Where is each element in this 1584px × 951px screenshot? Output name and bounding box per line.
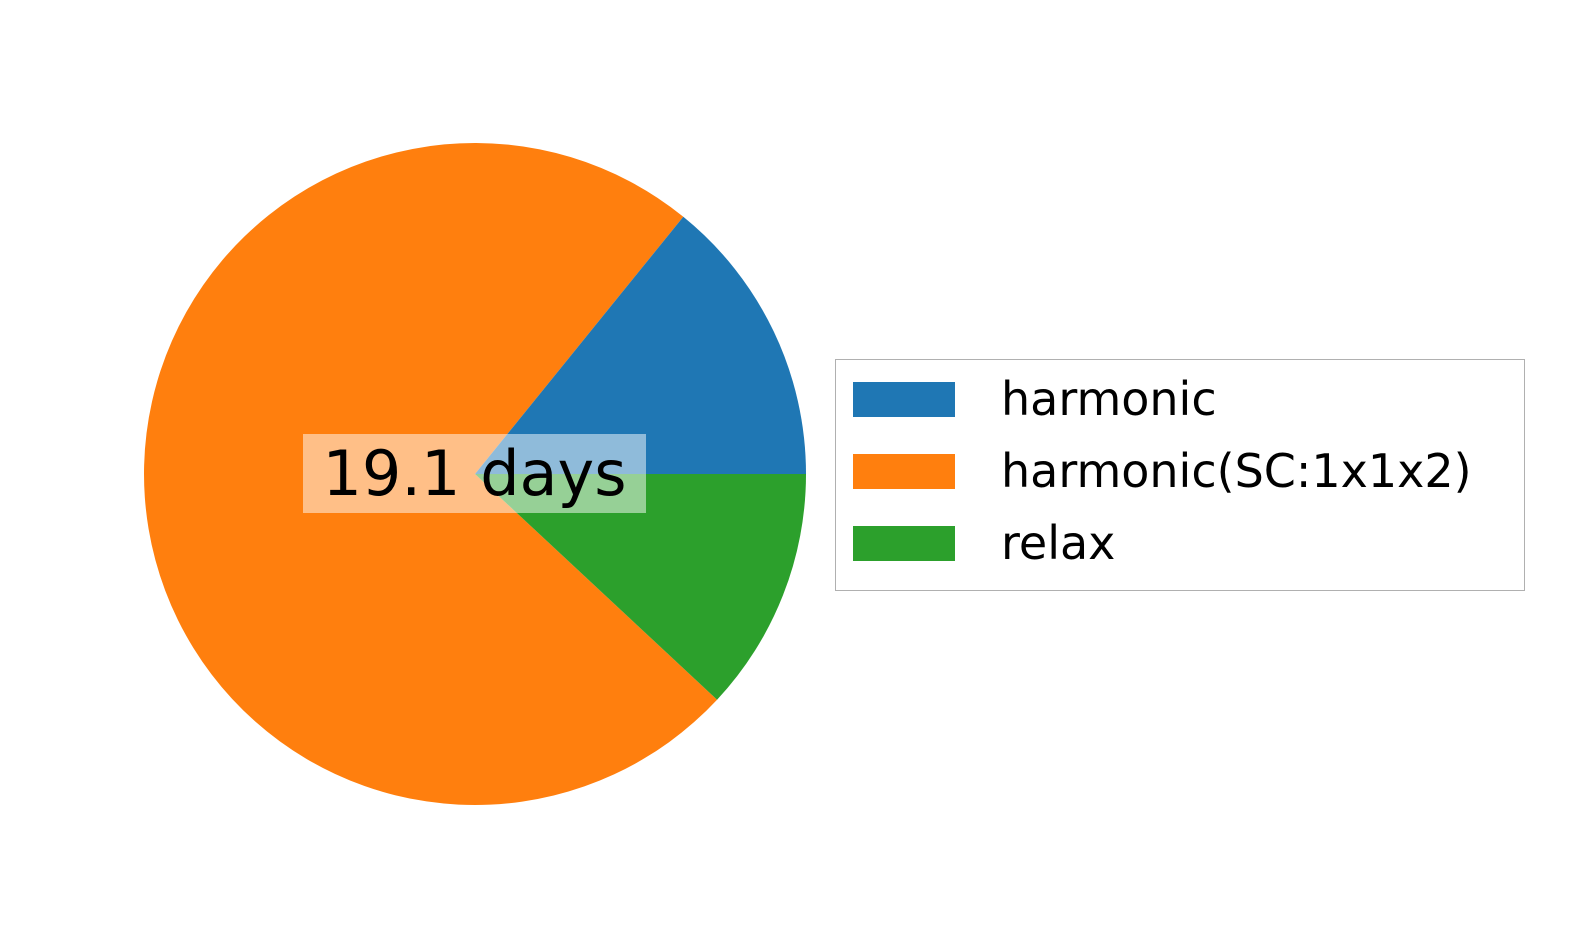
legend-swatch-harmonic-sc-1x1x2 [853, 454, 955, 489]
legend: harmonic harmonic(SC:1x1x2) relax [835, 359, 1525, 591]
legend-label-relax: relax [1001, 520, 1115, 566]
legend-item-harmonic[interactable]: harmonic [853, 381, 1217, 417]
legend-swatch-relax [853, 526, 955, 561]
legend-label-harmonic: harmonic [1001, 376, 1217, 422]
pie-center-label: 19.1 days [303, 434, 646, 513]
legend-item-relax[interactable]: relax [853, 525, 1115, 561]
legend-item-harmonic-sc-1x1x2[interactable]: harmonic(SC:1x1x2) [853, 453, 1472, 489]
pie-chart-figure: 19.1 days harmonic harmonic(SC:1x1x2) re… [0, 0, 1584, 951]
legend-label-harmonic-sc-1x1x2: harmonic(SC:1x1x2) [1001, 448, 1472, 494]
legend-swatch-harmonic [853, 382, 955, 417]
pie-center-label-text: 19.1 days [322, 443, 626, 505]
